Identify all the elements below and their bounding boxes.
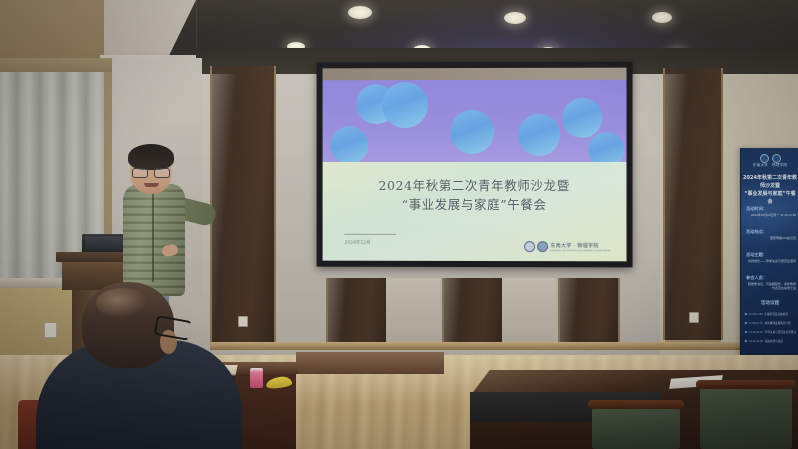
- slide-surface: 2024年秋第二次青年教师沙龙暨 “事业发展与家庭”午餐会 2024年12月 东…: [323, 68, 627, 262]
- glasses-right-lens: [154, 168, 170, 178]
- wall-wood-panel: [663, 68, 723, 340]
- slide-title-line1: 2024年秋第二次青年教师沙龙暨: [323, 176, 627, 195]
- banner-field-label: 活动主题：: [746, 252, 796, 258]
- slide-bubble: [382, 82, 428, 128]
- yogurt-cup[interactable]: [250, 368, 263, 388]
- ceiling-downlight: [348, 6, 372, 19]
- wall-wood-panel: [210, 66, 276, 342]
- slide-bubble: [562, 98, 602, 138]
- rollup-banner: 东南大学 · 物理学院 2024年秋第二次青年教师沙龙暨 “事业发展与家庭”午餐…: [740, 148, 798, 360]
- bullet-diamond-icon: [745, 322, 748, 325]
- glasses-left-lens: [132, 168, 148, 178]
- ceiling-seam: [196, 0, 197, 50]
- ceiling-left-beam: [0, 0, 118, 62]
- banner-agenda-row: 11:40-11:50午餐签到及自由交流: [745, 312, 797, 316]
- bullet-diamond-icon: [745, 331, 748, 334]
- wall-outlet: [689, 312, 699, 323]
- banner-university: 东南大学 · 物理学院: [741, 163, 798, 168]
- school-seal-icon: [537, 241, 548, 252]
- banner-field-value: 共同成长——导学关系与研究生培养: [746, 259, 796, 263]
- chair-armrest[interactable]: [588, 400, 684, 409]
- banner-logos: [741, 154, 798, 163]
- banner-agenda-time: 13:10-13:30: [749, 340, 763, 343]
- slide-top-band: [323, 68, 627, 81]
- banner-agenda-item: 午餐签到及自由交流: [764, 312, 787, 316]
- chair-armrest[interactable]: [696, 380, 796, 389]
- banner-field: 活动时间：2024年12月23日周一 11:40-13:30: [746, 206, 796, 217]
- banner-field-label: 参会人员：: [746, 275, 796, 281]
- banner-field-value: 国家明楼103会议室: [746, 236, 796, 240]
- school-seal-icon: [772, 154, 781, 163]
- ceiling-downlight: [652, 12, 672, 23]
- banner-agenda-row: 12:10-13:10导学关系与研究生培养研讨: [745, 330, 797, 334]
- banner-field-label: 活动地点：: [746, 229, 796, 235]
- banner-field-value: 院党委书记、与会副院长、青年教师代表及在站博士后: [746, 282, 796, 290]
- banner-agenda-item: 青年教师发展情况介绍: [765, 321, 791, 325]
- banner-field: 活动主题：共同成长——导学关系与研究生培养: [746, 252, 796, 263]
- slide-purple-band: [323, 80, 627, 162]
- university-seal-icon: [760, 154, 769, 163]
- slide-body: 2024年秋第二次青年教师沙龙暨 “事业发展与家庭”午餐会 2024年12月 东…: [323, 162, 627, 261]
- slide-title-line2: “事业发展与家庭”午餐会: [323, 195, 627, 214]
- banner-agenda-time: 11:50-12:10: [749, 322, 763, 325]
- attendee-scalp-highlight: [96, 288, 148, 318]
- slide-bubble: [450, 110, 494, 154]
- slide-logo-university: 东南大学 · 物理学院: [550, 243, 598, 249]
- conference-room-photo: 2024年秋第二次青年教师沙龙暨 “事业发展与家庭”午餐会 2024年12月 东…: [0, 0, 798, 449]
- speaker-glasses-icon: [132, 168, 170, 176]
- banner-field-value: 2024年12月23日周一 11:40-13:30: [746, 213, 796, 217]
- under-screen-panel-light: [386, 278, 440, 342]
- bullet-diamond-icon: [745, 340, 748, 343]
- banner-title: 2024年秋第二次青年教师沙龙暨 “事业发展与家庭”午餐会: [743, 174, 797, 206]
- banner-agenda-item: 导学关系与研究生培养研讨: [765, 330, 796, 334]
- bullet-diamond-icon: [745, 313, 748, 316]
- banner-agenda-time: 12:10-13:10: [749, 331, 763, 334]
- mid-table: [296, 352, 444, 374]
- banner-agenda-heading: 活动议程: [741, 300, 798, 306]
- banner-field: 活动地点：国家明楼103会议室: [746, 229, 796, 240]
- chair-seatback[interactable]: [700, 386, 792, 449]
- slide-bubble-decor: [323, 80, 627, 81]
- wall-outlet: [238, 316, 248, 327]
- slide-divider-rule: [344, 234, 396, 235]
- slide-date: 2024年12月: [344, 240, 370, 246]
- baseboard: [210, 342, 690, 350]
- speaker-hair: [128, 144, 174, 170]
- banner-field-label: 活动时间：: [746, 206, 796, 212]
- banner-title-line1: 2024年秋第二次青年教师沙龙暨: [743, 174, 797, 190]
- curtain-rod-box: [0, 58, 112, 72]
- light-switch[interactable]: [44, 322, 57, 338]
- jacket-zipper: [152, 190, 154, 282]
- banner-title-line2: “事业发展与家庭”午餐会: [743, 190, 797, 206]
- jacket-quilting: [123, 184, 185, 296]
- slide-bubble: [331, 126, 369, 162]
- ceiling-downlight: [504, 12, 526, 24]
- under-screen-panel-light: [502, 278, 556, 342]
- speaker-jacket: [123, 184, 185, 296]
- slide-logo-subtitle: SCHOOL OF PHYSICS SOUTHEAST UNIVERSITY: [550, 249, 610, 252]
- university-seal-icon: [524, 241, 535, 252]
- slide-bubble: [588, 132, 624, 162]
- under-screen-panel: [558, 278, 620, 342]
- slide-bubble: [518, 114, 560, 156]
- slide-title: 2024年秋第二次青年教师沙龙暨 “事业发展与家庭”午餐会: [323, 176, 627, 214]
- banner-agenda-row: 11:50-12:10青年教师发展情况介绍: [745, 321, 797, 325]
- projection-screen: 2024年秋第二次青年教师沙龙暨 “事业发展与家庭”午餐会 2024年12月 东…: [317, 62, 633, 268]
- under-screen-panel: [442, 278, 504, 342]
- banner-agenda-row: 13:10-13:30自由交流与总结: [745, 339, 797, 343]
- slide-logo-group: 东南大学 · 物理学院 SCHOOL OF PHYSICS SOUTHEAST …: [524, 241, 610, 252]
- banner-agenda-item: 自由交流与总结: [765, 339, 783, 343]
- speaker-mouth: [144, 183, 159, 187]
- slide-logo-text: 东南大学 · 物理学院 SCHOOL OF PHYSICS SOUTHEAST …: [550, 242, 610, 252]
- banner-agenda-time: 11:40-11:50: [749, 313, 762, 316]
- chair-seatback[interactable]: [592, 408, 680, 449]
- under-screen-panel: [326, 278, 388, 342]
- banner-field: 参会人员：院党委书记、与会副院长、青年教师代表及在站博士后: [746, 275, 796, 290]
